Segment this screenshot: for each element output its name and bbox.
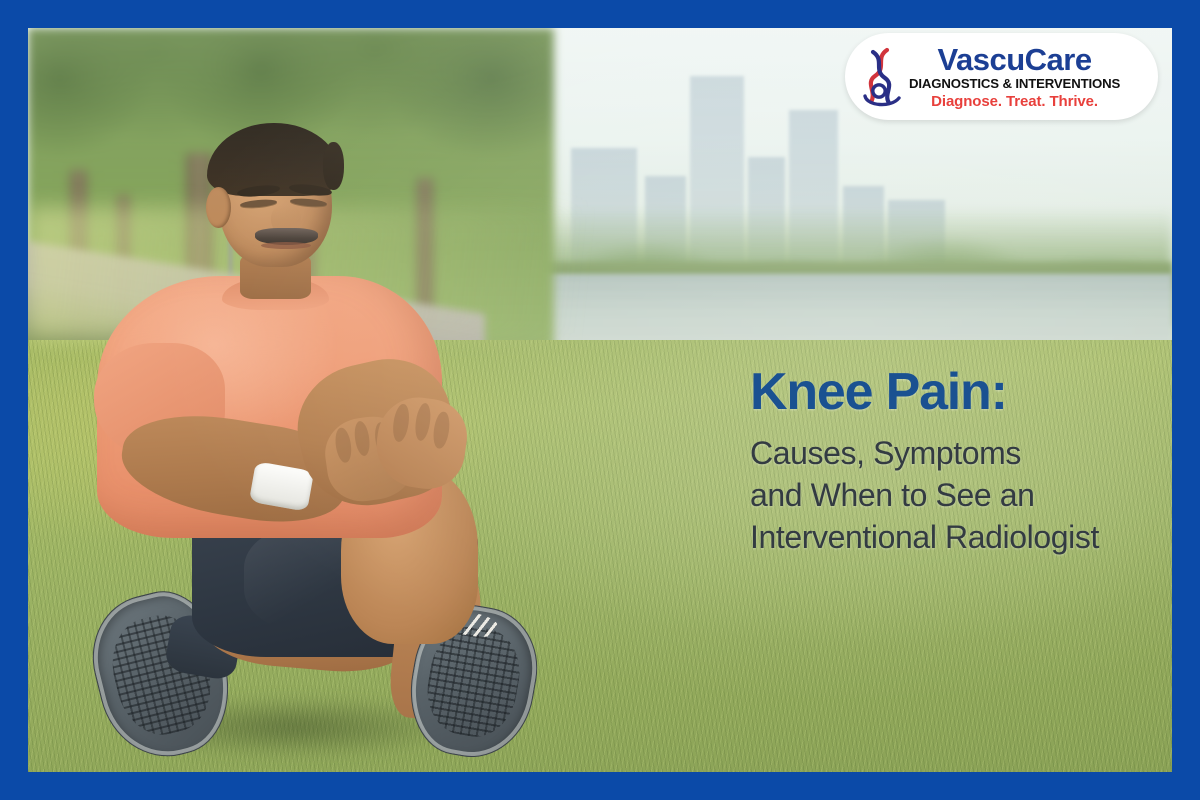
hero-photo: Knee Pain: Causes, Symptoms and When to … xyxy=(28,28,1172,772)
vascular-helix-icon xyxy=(857,46,907,108)
subtitle-line-2: and When to See an xyxy=(750,474,1172,516)
logo-tagline: Diagnose. Treat. Thrive. xyxy=(909,94,1120,109)
man-holding-knee xyxy=(85,132,680,772)
knee-pain-banner: Knee Pain: Causes, Symptoms and When to … xyxy=(0,0,1200,800)
ear xyxy=(206,187,231,228)
page-title: Knee Pain: xyxy=(750,366,1172,418)
logo-text-block: VascuCare DIAGNOSTICS & INTERVENTIONS Di… xyxy=(909,44,1120,108)
subtitle-line-1: Causes, Symptoms xyxy=(750,432,1172,474)
subtitle-line-3: Interventional Radiologist xyxy=(750,516,1172,558)
logo-title: VascuCare xyxy=(909,44,1120,75)
logo-subtitle: DIAGNOSTICS & INTERVENTIONS xyxy=(909,77,1120,90)
vascucare-logo[interactable]: VascuCare DIAGNOSTICS & INTERVENTIONS Di… xyxy=(845,33,1158,120)
headline-block: Knee Pain: Causes, Symptoms and When to … xyxy=(750,366,1172,559)
